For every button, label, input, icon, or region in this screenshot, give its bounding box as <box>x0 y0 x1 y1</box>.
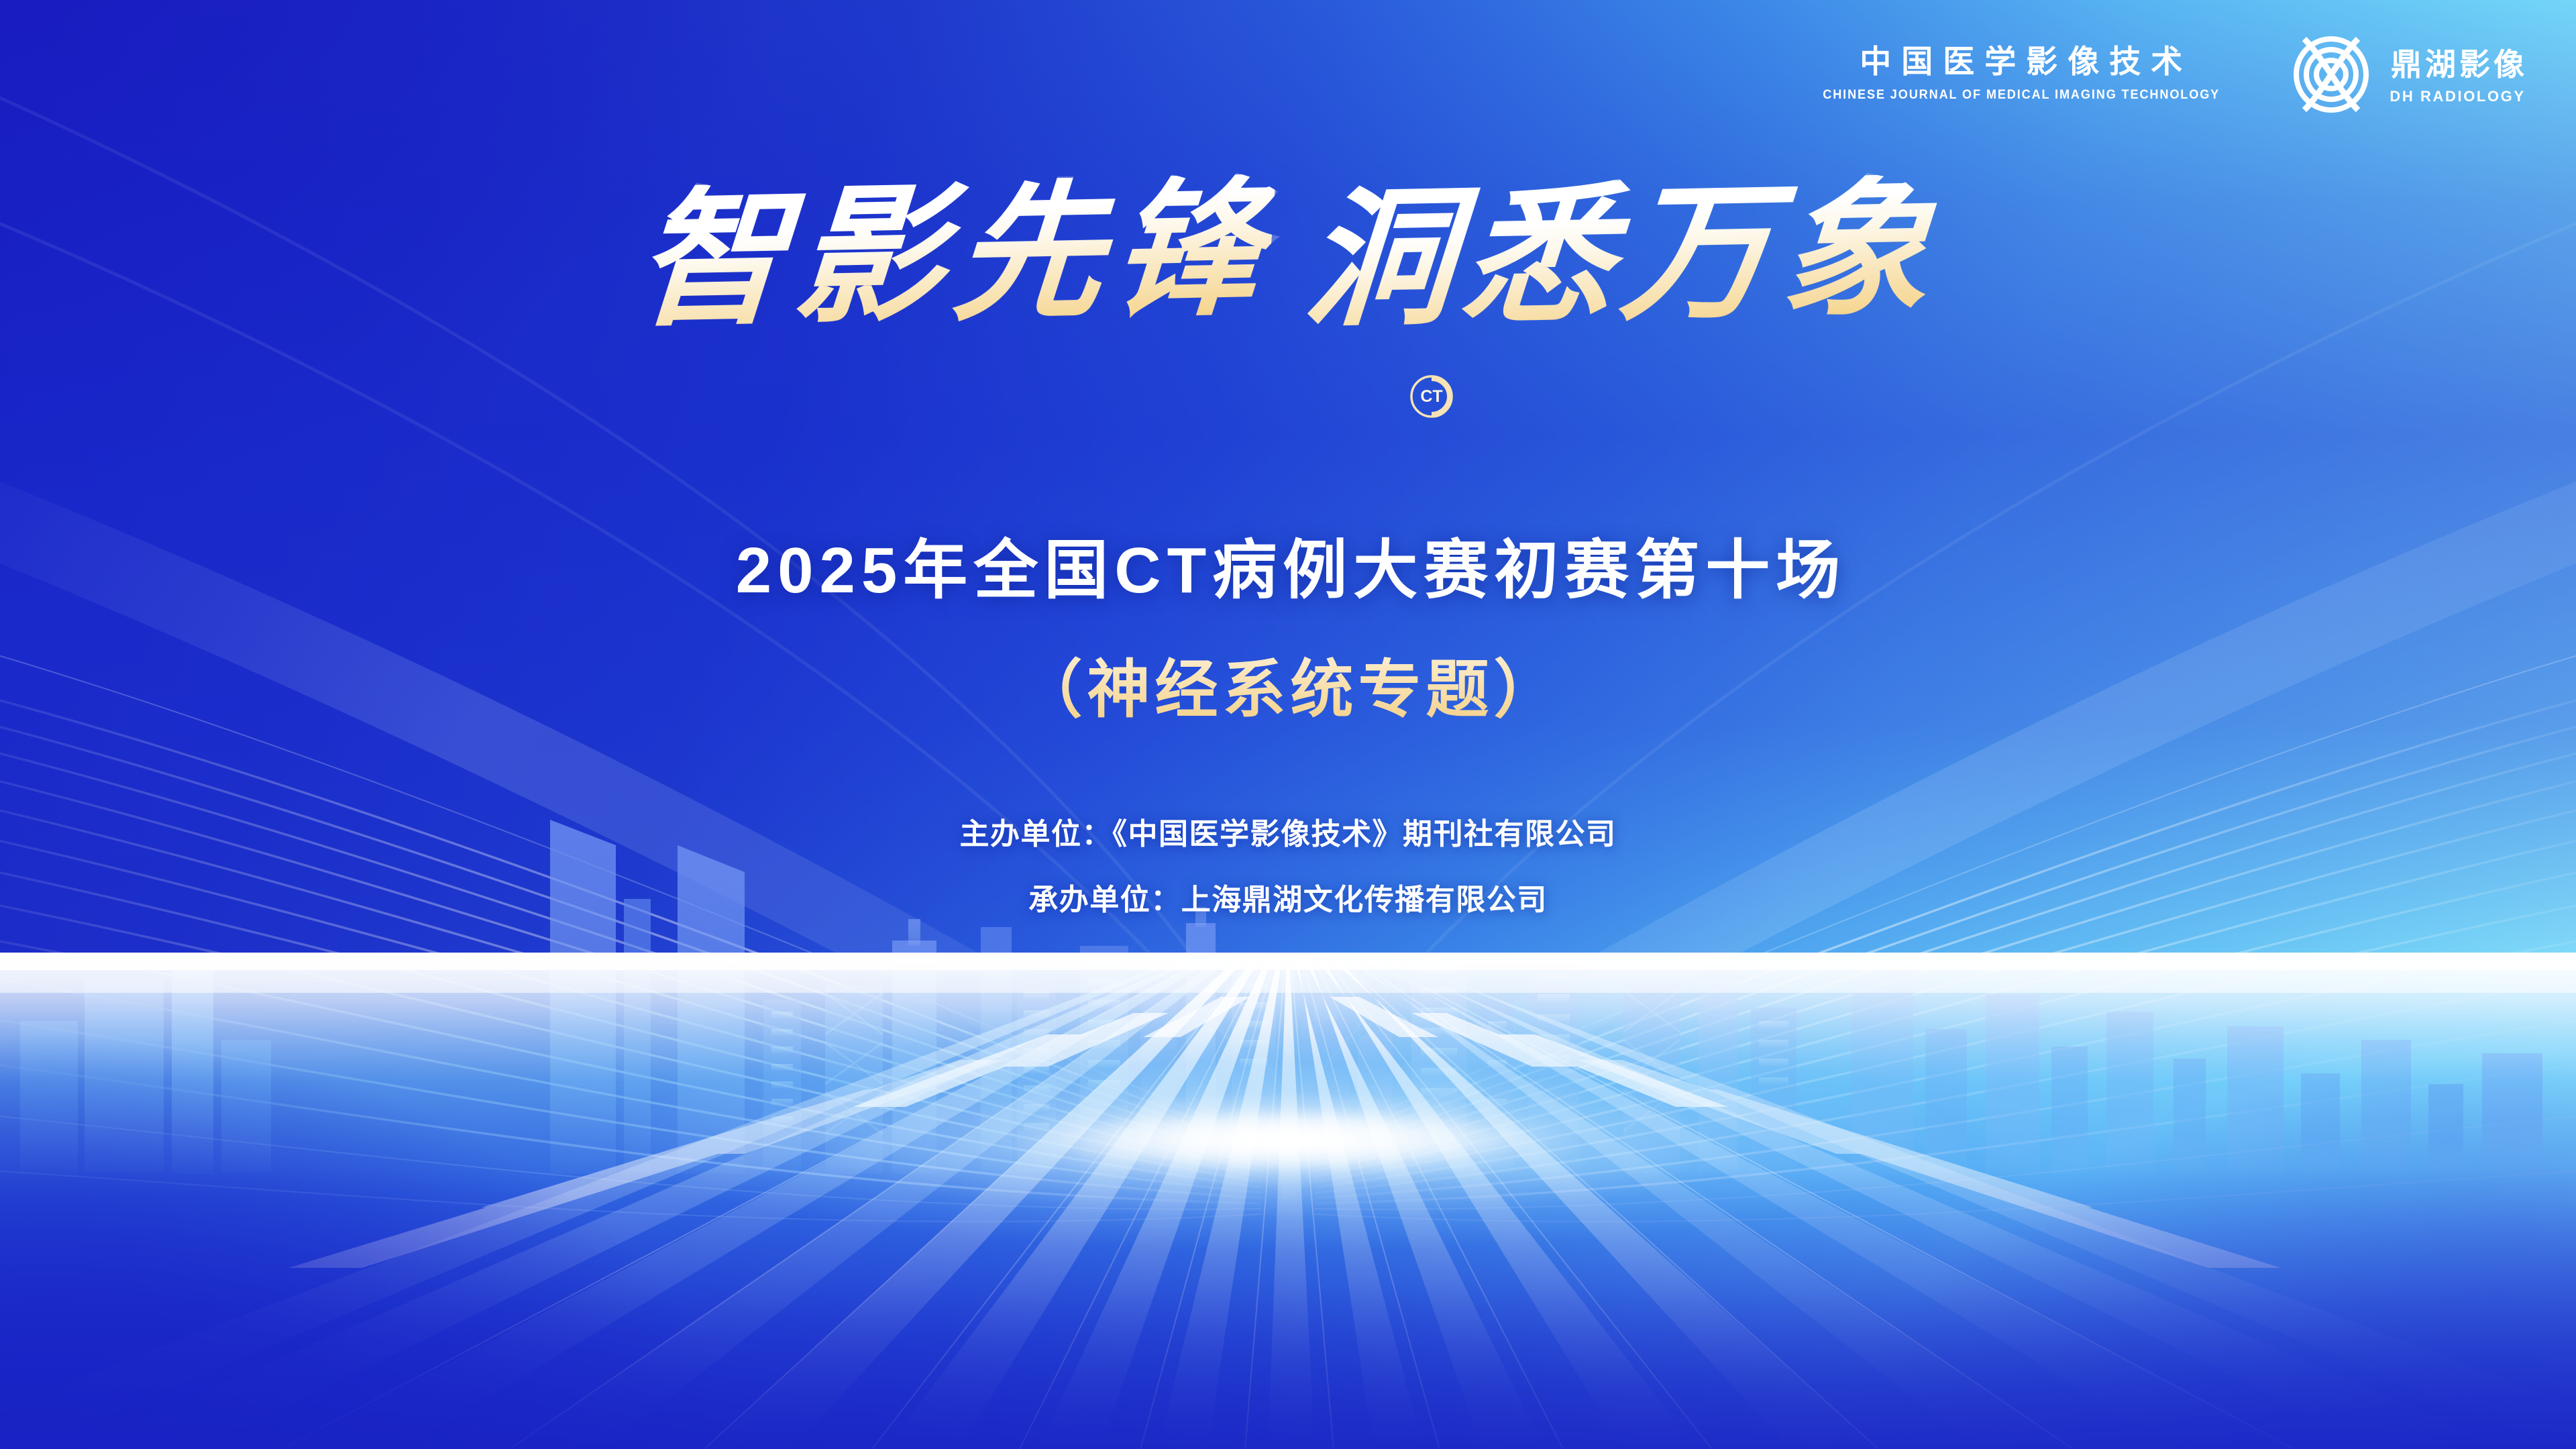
subtitle-line: 2025年全国CT病例大赛初赛第十场 <box>0 518 2576 611</box>
organizer-line-host: 主办单位：《中国医学影像技术》期刊社有限公司 <box>0 820 2576 849</box>
main-headline: 智影先锋 洞悉万象 <box>0 180 2576 329</box>
journal-logo: 中国医学影像技术 CHINESE JOURNAL OF MEDICAL IMAG… <box>1808 35 2235 103</box>
background-bottom-fade <box>0 1167 2576 1449</box>
topic-line: （神经系统专题） <box>0 639 2576 730</box>
dh-radiology-arcs-icon <box>2292 35 2370 114</box>
journal-logo-cn-text: 中国医学影像技术 <box>1808 44 2235 80</box>
dh-radiology-logo: 鼎湖影像 DH RADIOLOGY <box>2292 35 2528 114</box>
ct-emblem-icon: CT <box>1405 370 1458 423</box>
dh-radiology-wordmark: 鼎湖影像 DH RADIOLOGY <box>2387 44 2528 105</box>
organizer-line-coorganizer: 承办单位：上海鼎湖文化传播有限公司 <box>0 885 2576 915</box>
organizer-block: 主办单位：《中国医学影像技术》期刊社有限公司 承办单位：上海鼎湖文化传播有限公司 <box>0 820 2576 915</box>
header-logos: 中国医学影像技术 CHINESE JOURNAL OF MEDICAL IMAG… <box>1808 35 2528 114</box>
subtitle-text: 2025年全国CT病例大赛初赛第十场 <box>730 518 1847 611</box>
headline-part-1: 智影先锋 <box>631 174 1276 335</box>
topic-text: （神经系统专题） <box>1014 639 1561 730</box>
ct-emblem-label: CT <box>1420 387 1442 406</box>
headline-part-2: 洞悉万象 <box>1300 174 1945 335</box>
poster-canvas: 中国医学影像技术 CHINESE JOURNAL OF MEDICAL IMAG… <box>0 0 2576 1449</box>
journal-logo-en-text: CHINESE JOURNAL OF MEDICAL IMAGING TECHN… <box>1823 87 2220 103</box>
dh-logo-cn-text: 鼎湖影像 <box>2387 48 2528 82</box>
dh-logo-en-text: DH RADIOLOGY <box>2387 88 2528 105</box>
